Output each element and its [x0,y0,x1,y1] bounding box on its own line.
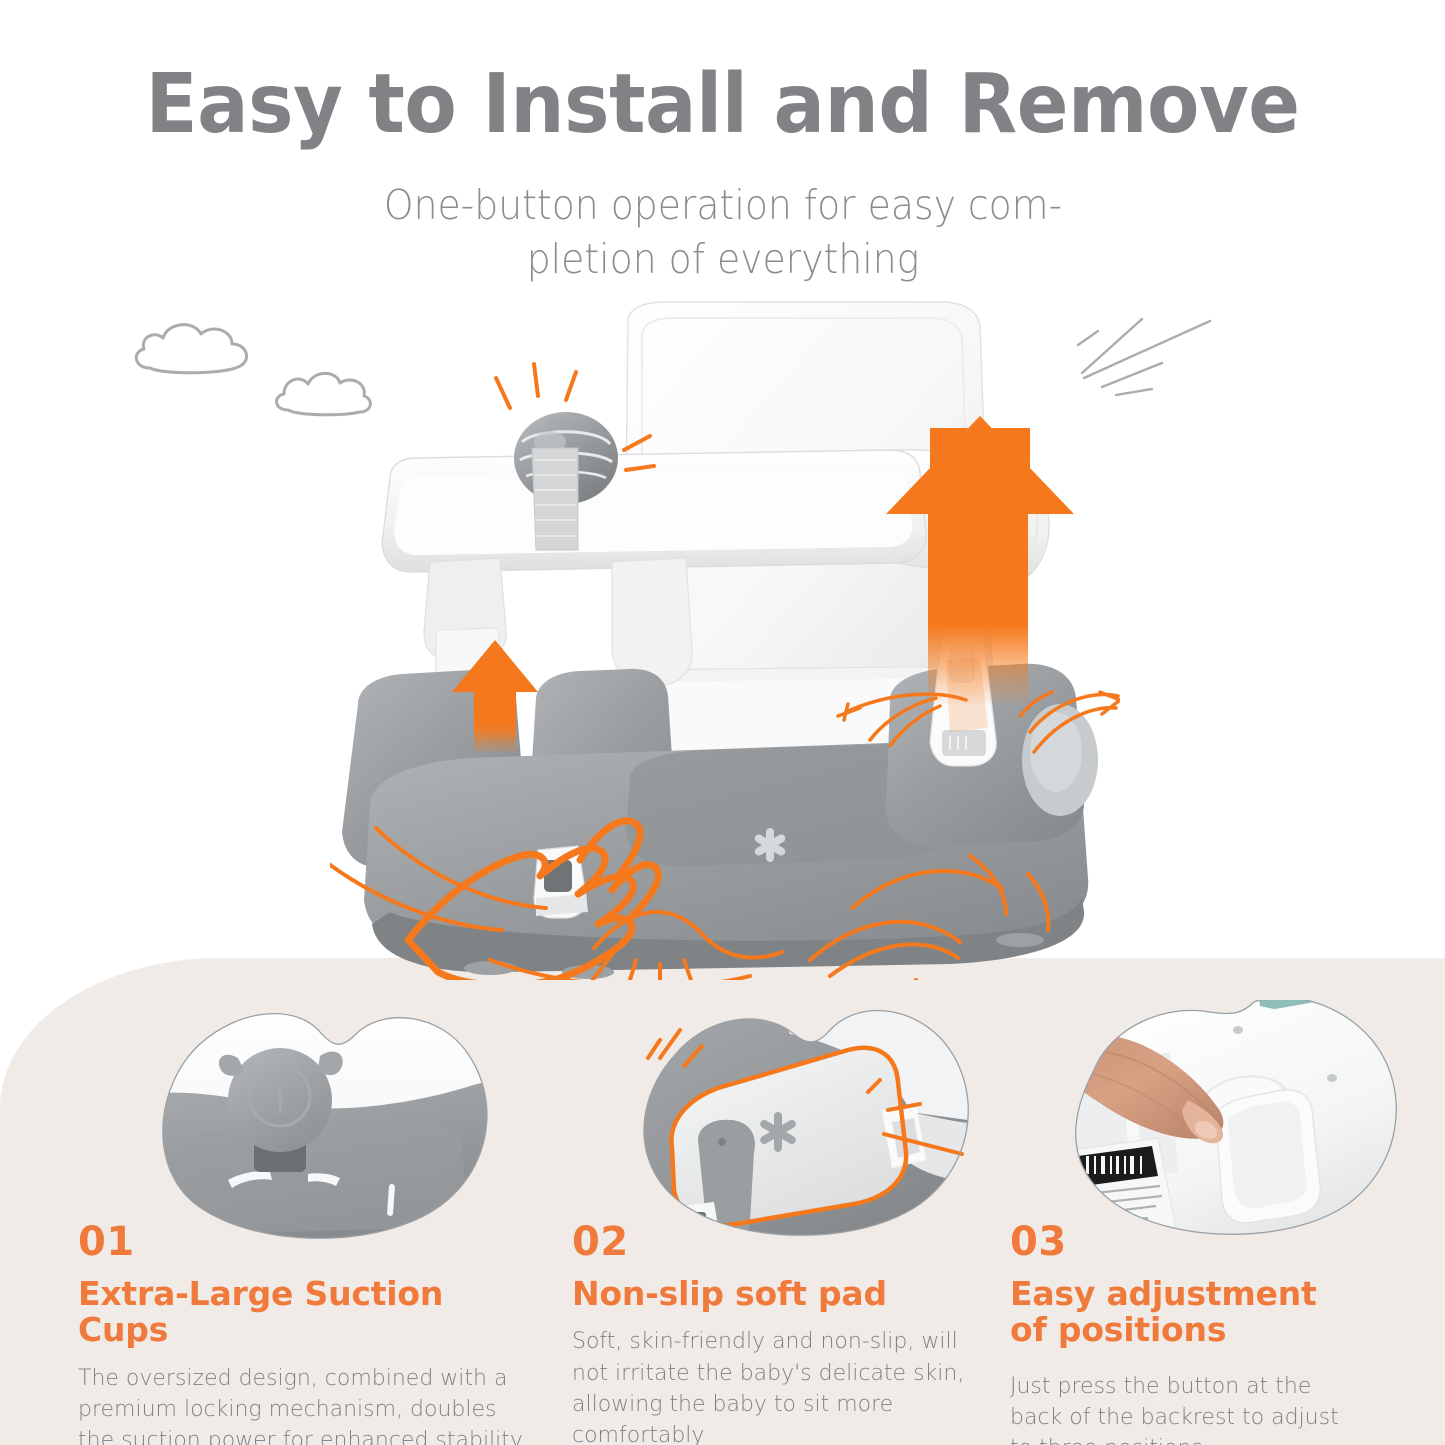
feature-body: Soft, skin-friendly and non-slip, will n… [572,1326,992,1445]
feature-number: 02 [572,1222,992,1262]
feature-card-01: 01 Extra-Large Suction Cups The oversize… [78,1222,533,1445]
feature-card-02: 02 Non-slip soft pad Soft, skin-friendly… [572,1222,992,1445]
feature-image-backrest-button [1048,1000,1445,1240]
feature-image-non-slip-pad [610,1000,1010,1240]
feature-card-03: 03 Easy adjustment of positions Just pre… [1010,1222,1360,1445]
page-subtitle: One-button operation for easy com-pletio… [373,178,1072,286]
feature-body: The oversized design, combined with a pr… [78,1363,533,1445]
feature-number: 01 [78,1222,533,1262]
feature-heading: Non-slip soft pad [572,1276,992,1312]
feature-body: Just press the button at the back of the… [1010,1371,1360,1445]
infographic-canvas: Easy to Install and Remove One-button op… [0,0,1445,1445]
toy-strap [532,448,578,550]
product-illustration-baby-bath-seat [330,300,1120,980]
page-title: Easy to Install and Remove [51,62,1395,148]
feature-heading: Extra-Large Suction Cups [78,1276,533,1349]
feature-image-suction-cup [120,1000,540,1240]
feature-number: 03 [1010,1222,1360,1262]
feature-heading: Easy adjustment of positions [1010,1276,1360,1349]
crotch-post [612,558,692,686]
cloud-icon [128,318,258,380]
